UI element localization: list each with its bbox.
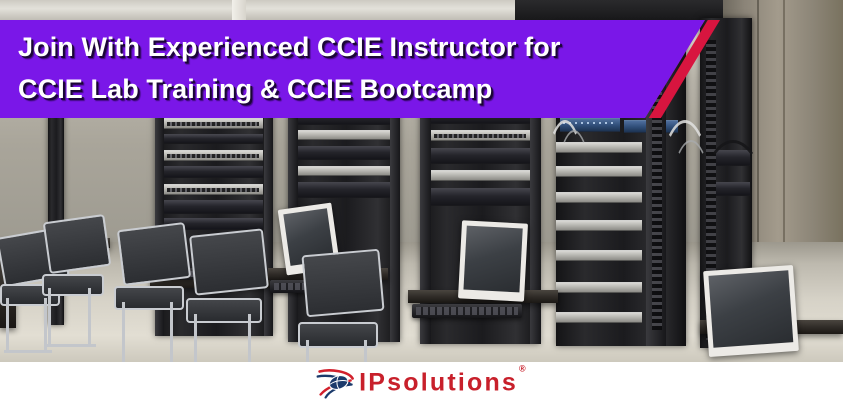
rack-2-ports-2: [167, 154, 259, 158]
rack-2-ports-1: [167, 122, 259, 126]
rack-3-unit-6: [296, 182, 392, 198]
chair-2-seat: [42, 274, 104, 296]
rack-5-unit-4: [556, 220, 642, 231]
ipsolutions-logo[interactable]: IPsolutions®: [316, 367, 527, 398]
rack-4-unit-6: [430, 188, 530, 206]
chair-2-leg-1: [48, 288, 51, 346]
rack-5-unit-2: [556, 166, 642, 177]
rack-6-unit-1: [716, 150, 750, 166]
registered-trademark-icon: ®: [519, 364, 528, 374]
ccie-promo-banner: Join With Experienced CCIE Instructor fo…: [0, 0, 843, 403]
chair-2-back: [43, 214, 112, 274]
rack-4-ports-2: [434, 134, 526, 138]
rack-5-switch-blue-1: [560, 118, 620, 132]
logo-wordmark: IPsolutions®: [359, 370, 527, 395]
chair-1-leg-1: [6, 298, 9, 352]
rack-2-unit-4: [163, 166, 263, 178]
footer-bar: IPsolutions®: [0, 362, 843, 403]
keyboard-3: [412, 304, 522, 318]
rack-5-unit-5: [556, 250, 642, 261]
rack-5-unit-3: [556, 192, 642, 203]
chair-2-foot: [46, 344, 96, 347]
monitor-2-screen: [463, 226, 522, 293]
chair-2-leg-2: [88, 288, 91, 346]
chair-4-leg-1: [194, 314, 197, 362]
chair-5: [288, 252, 418, 362]
rack-2-unit-6: [163, 200, 263, 214]
rack-6-unit-2: [716, 182, 750, 196]
monitor-3-screen: [708, 270, 793, 347]
rack-3-unit-3: [296, 130, 392, 140]
rack-2-unit-2: [163, 134, 263, 144]
chair-5-leg-1: [306, 340, 309, 362]
headline-line-2: CCIE Lab Training & CCIE Bootcamp: [18, 68, 658, 110]
chair-4-leg-2: [248, 314, 251, 362]
rack-5-unit-7: [556, 312, 642, 323]
logo-wordmark-text: IPsolutions: [359, 368, 518, 396]
ipsolutions-swoosh-icon: [316, 367, 356, 398]
rack-4-unit-5: [430, 170, 530, 181]
headline-line-1: Join With Experienced CCIE Instructor fo…: [18, 26, 658, 68]
chair-1-foot: [4, 350, 52, 353]
chair-3-leg-1: [122, 302, 125, 362]
rack-5-unit-1: [556, 142, 642, 153]
banner-headline: Join With Experienced CCIE Instructor fo…: [18, 26, 658, 110]
monitor-3: [703, 265, 799, 357]
chair-5-back: [301, 249, 384, 318]
rack-3-unit-4: [296, 146, 392, 160]
chair-3-leg-2: [170, 302, 173, 362]
chair-4: [178, 232, 298, 362]
rack-4-unit-4: [430, 148, 530, 164]
rack-5-leds-1: [563, 122, 615, 124]
rack-5-unit-6: [556, 282, 642, 293]
rack-2-ports-3: [167, 188, 259, 192]
rack-3-unit-5: [296, 166, 392, 176]
chair-4-back: [189, 228, 269, 295]
chair-5-leg-2: [364, 340, 367, 362]
monitor-2: [458, 220, 528, 301]
